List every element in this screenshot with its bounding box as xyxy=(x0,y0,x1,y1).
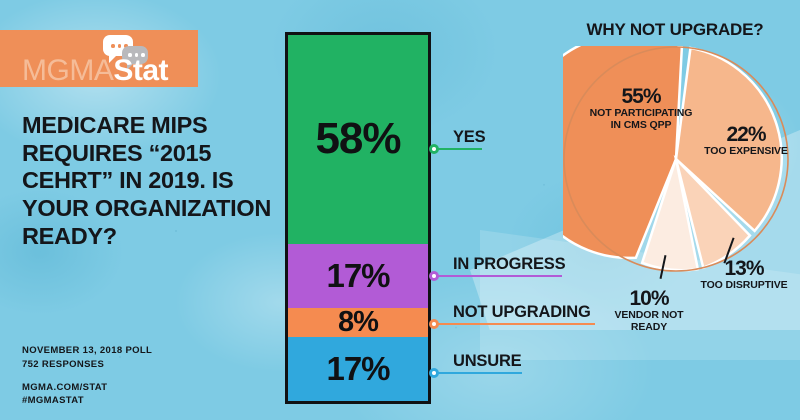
callout-dot-yes xyxy=(429,144,439,154)
pie-desc-vendor-not-ready-1: VENDOR NOT xyxy=(596,309,702,321)
pie-value-not-participating: 55% xyxy=(566,86,716,107)
pie-value-too-expensive: 22% xyxy=(692,124,800,145)
pie-desc-too-expensive: TOO EXPENSIVE xyxy=(692,145,800,157)
pie-label-too-expensive: 22% TOO EXPENSIVE xyxy=(692,124,800,157)
pie-desc-too-disruptive: TOO DISRUPTIVE xyxy=(692,279,796,291)
logo-mgma-text: MGMA xyxy=(22,54,113,87)
bar-segment-yes: 58% xyxy=(288,35,428,244)
callout-dot-not-upgrading xyxy=(429,319,439,329)
pie-label-too-disruptive: 13% TOO DISRUPTIVE xyxy=(692,258,796,291)
callout-rule-in-progress xyxy=(437,275,562,277)
callout-dot-unsure xyxy=(429,368,439,378)
stacked-bar-chart: 58% 17% 8% 17% xyxy=(285,32,431,404)
pie-desc-vendor-not-ready-2: READY xyxy=(596,321,702,333)
pie-desc-not-participating-1: NOT PARTICIPATING xyxy=(566,107,716,119)
footer-block: NOVEMBER 13, 2018 POLL 752 RESPONSES MGM… xyxy=(22,344,152,408)
pie-label-vendor-not-ready: 10% VENDOR NOT READY xyxy=(596,288,702,334)
callout-rule-not-upgrading xyxy=(437,323,595,325)
logo-stat-text: Stat xyxy=(113,54,168,87)
bar-segment-unsure: 17% xyxy=(288,337,428,401)
responses-count: 752 RESPONSES xyxy=(22,358,152,372)
hashtag: #MGMASTAT xyxy=(22,394,152,408)
pie-chart-title: WHY NOT UPGRADE? xyxy=(560,20,790,40)
bar-value-not-upgrading: 8% xyxy=(338,308,378,337)
bar-value-in-progress: 17% xyxy=(326,259,389,292)
pie-value-vendor-not-ready: 10% xyxy=(596,288,702,309)
logo-wordmark: MGMAStat xyxy=(22,56,168,86)
mgma-stat-logo-bar: MGMAStat xyxy=(0,30,198,87)
bar-value-yes: 58% xyxy=(315,117,400,161)
callout-rule-yes xyxy=(437,148,482,150)
bar-value-unsure: 17% xyxy=(326,352,389,385)
infographic-canvas: MGMAStat MEDICARE MIPS REQUIRES “2015 CE… xyxy=(0,0,800,420)
page-title: MEDICARE MIPS REQUIRES “2015 CEHRT” IN 2… xyxy=(22,112,272,251)
callout-rule-unsure xyxy=(437,372,522,374)
callout-label-in-progress: IN PROGRESS xyxy=(453,255,565,274)
website-url: MGMA.COM/STAT xyxy=(22,381,152,395)
pie-value-too-disruptive: 13% xyxy=(692,258,796,279)
callout-label-yes: YES xyxy=(453,128,485,147)
pie-chart xyxy=(563,46,789,274)
pie-chart-svg xyxy=(563,46,789,274)
callout-label-unsure: UNSURE xyxy=(453,352,521,371)
bar-segment-not-upgrading: 8% xyxy=(288,308,428,337)
bar-segment-in-progress: 17% xyxy=(288,244,428,308)
callout-dot-in-progress xyxy=(429,271,439,281)
callout-label-not-upgrading: NOT UPGRADING xyxy=(453,303,591,322)
poll-date: NOVEMBER 13, 2018 POLL xyxy=(22,344,152,358)
